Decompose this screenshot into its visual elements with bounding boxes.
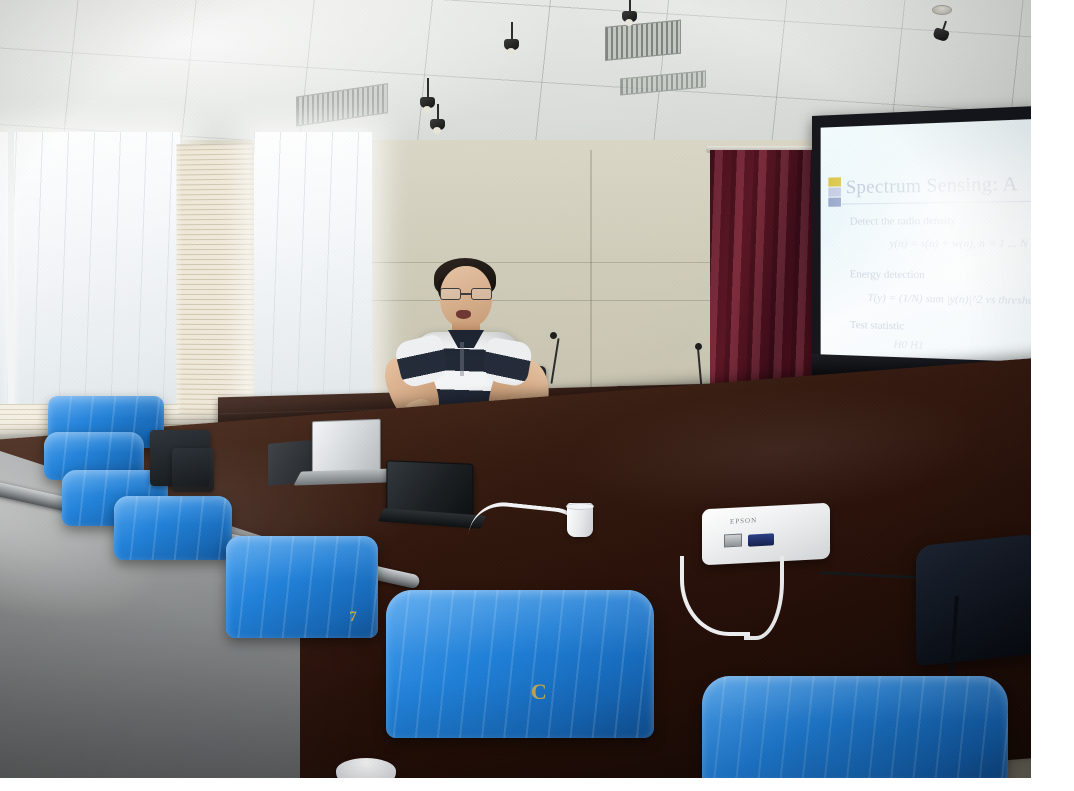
louvered-wall-panel: [176, 143, 256, 430]
slide-bullet-2: Energy detection: [850, 268, 925, 281]
slide-equation-2: T(y) = (1/N) sum |y(n)|^2 vs threshold: [868, 292, 1031, 308]
eyeglass-bridge: [461, 293, 471, 295]
eyeglass-lens-right: [471, 288, 492, 300]
projector-port: [724, 534, 742, 548]
blue-chair: C: [386, 590, 654, 738]
silver-laptop: [312, 420, 382, 478]
black-laptop: [385, 462, 473, 520]
conference-room-photograph: Spectrum Sensing: A Detect the radio den…: [0, 0, 1031, 778]
presenter-mouth: [456, 310, 471, 319]
screen-surface: Spectrum Sensing: A Detect the radio den…: [821, 119, 1031, 362]
window-left: [0, 132, 180, 432]
paper-cup: [567, 503, 593, 537]
page-bottom-margin: [0, 778, 1074, 791]
blue-chair: [702, 676, 1008, 778]
slide-title-underline: [842, 201, 1031, 205]
blue-chair: [114, 496, 232, 560]
spotlight-bulb: [507, 48, 515, 55]
eyeglass-lens-left: [440, 288, 461, 300]
chair-base-dark: [172, 448, 214, 492]
projector-brand-label: EPSON: [730, 516, 757, 525]
projector: EPSON: [702, 506, 830, 562]
chair-cover-folds: [702, 676, 1008, 778]
burgundy-curtain: [710, 150, 826, 400]
chair-cover-folds: [114, 496, 232, 560]
projector-vga-port: [748, 533, 774, 546]
blue-chair: 7: [226, 536, 378, 638]
page-right-margin: [1031, 0, 1074, 791]
spotlight-stem: [511, 22, 513, 40]
slide-bullet-3: Test statistic: [850, 319, 904, 333]
roller-blind-folds: [254, 132, 372, 424]
wall-seam: [590, 150, 592, 390]
shirt-placket: [460, 342, 464, 376]
eyeglasses-icon: [440, 288, 492, 300]
slide-equation-1: y(n) = s(n) + w(n), n = 1 ... N: [890, 237, 1028, 250]
chair-cover-logo: C: [531, 679, 547, 705]
slide-equation-3: H0 H1: [894, 338, 924, 351]
window-right: [254, 132, 372, 424]
slide-bullet-1: Detect the radio density: [850, 214, 956, 227]
photo-frame: Spectrum Sensing: A Detect the radio den…: [0, 0, 1074, 791]
roller-blind-folds: [0, 132, 180, 432]
slide-logo-icon: [828, 177, 842, 207]
smoke-detector-icon: [932, 5, 952, 15]
paper-cup: [336, 758, 396, 778]
air-vent-icon: [605, 20, 681, 61]
window-mullion: [8, 130, 14, 430]
chair-cover-folds: [386, 590, 654, 738]
spotlight-stem: [427, 78, 429, 98]
spotlight-bulb: [423, 106, 431, 113]
mic-capsule: [695, 343, 702, 350]
spotlight-bulb: [433, 127, 441, 134]
laptop-bag: [916, 534, 1031, 667]
chair-cover-logo: 7: [349, 609, 357, 626]
slide-title: Spectrum Sensing: A: [846, 172, 1031, 200]
projection-screen: Spectrum Sensing: A Detect the radio den…: [812, 106, 1031, 388]
spotlight-stem: [437, 104, 439, 120]
spotlight-bulb: [625, 19, 633, 26]
